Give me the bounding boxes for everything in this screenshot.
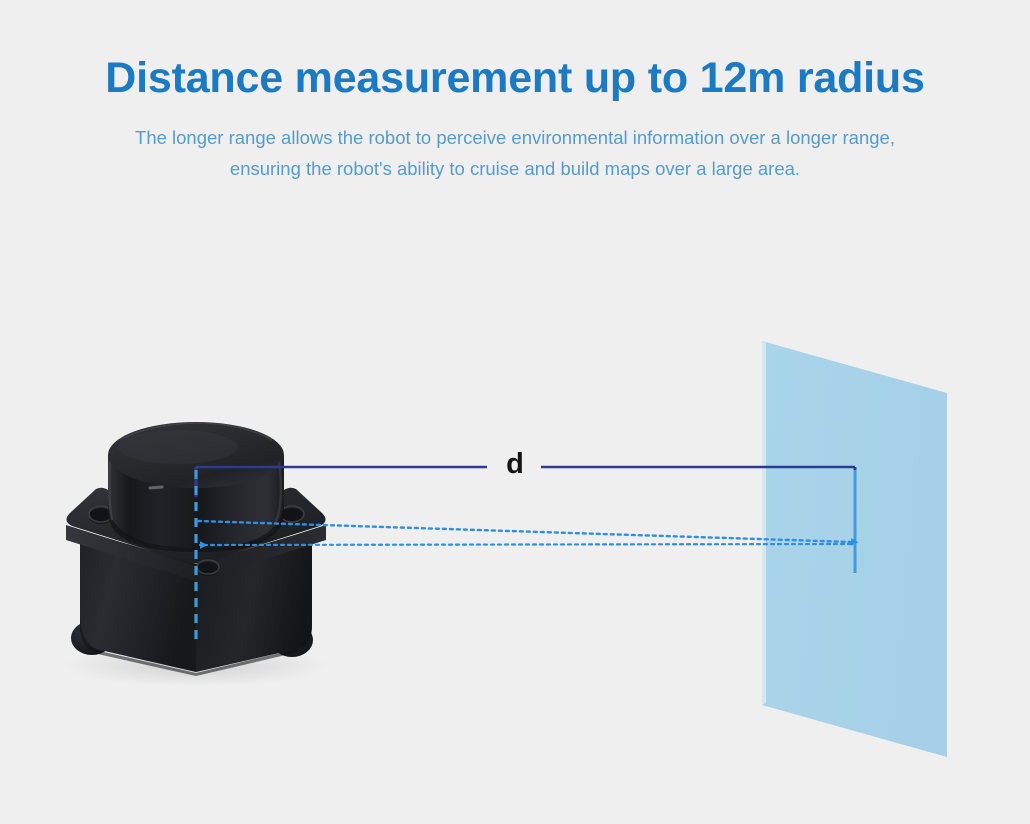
mount-foot-right xyxy=(271,623,313,657)
mounting-hole-left xyxy=(89,508,113,524)
device-body-right-face xyxy=(196,530,312,672)
device-body-left-face xyxy=(80,530,196,672)
return-laser-beam xyxy=(200,544,851,545)
mounting-hole-right-rim xyxy=(280,506,304,522)
mounting-hole-front xyxy=(197,562,219,576)
device-cylinder-left-specular xyxy=(109,462,112,520)
mounting-hole-right xyxy=(280,508,304,524)
device-shadow xyxy=(64,646,328,686)
mount-foot-left xyxy=(71,621,113,655)
device-top-gloss xyxy=(118,430,238,464)
dimension-line-group xyxy=(196,467,855,497)
subtitle-line-1: The longer range allows the robot to per… xyxy=(0,123,1030,154)
header: Distance measurement up to 12m radius Th… xyxy=(0,0,1030,185)
device-cylinder-side xyxy=(108,455,284,548)
page-title: Distance measurement up to 12m radius xyxy=(0,56,1030,101)
subtitle-line-2: ensuring the robot's ability to cruise a… xyxy=(0,154,1030,185)
device-flange-plate xyxy=(66,488,325,564)
distance-label: d xyxy=(495,450,535,479)
device-flange-rim xyxy=(66,525,326,581)
laser-beams xyxy=(198,521,851,545)
device-index-mark xyxy=(150,487,162,488)
outgoing-laser-beam xyxy=(198,521,851,542)
device-cylinder-top xyxy=(108,422,284,488)
device-cylinder-base-shade xyxy=(108,500,284,552)
page-root: Distance measurement up to 12m radius Th… xyxy=(0,0,1030,824)
page-subtitle: The longer range allows the robot to per… xyxy=(0,101,1030,184)
mounting-hole-front-rim xyxy=(197,560,219,574)
lidar-sensor xyxy=(66,422,326,676)
wall-plane xyxy=(762,341,947,757)
mounting-hole-left-rim xyxy=(89,506,113,522)
device-body-bottom-edge xyxy=(80,615,312,676)
target-wall xyxy=(762,341,947,757)
wall-left-edge-highlight xyxy=(762,341,766,705)
device-top-rim-highlight xyxy=(120,423,272,440)
device-cylinder-right-specular xyxy=(276,462,281,522)
